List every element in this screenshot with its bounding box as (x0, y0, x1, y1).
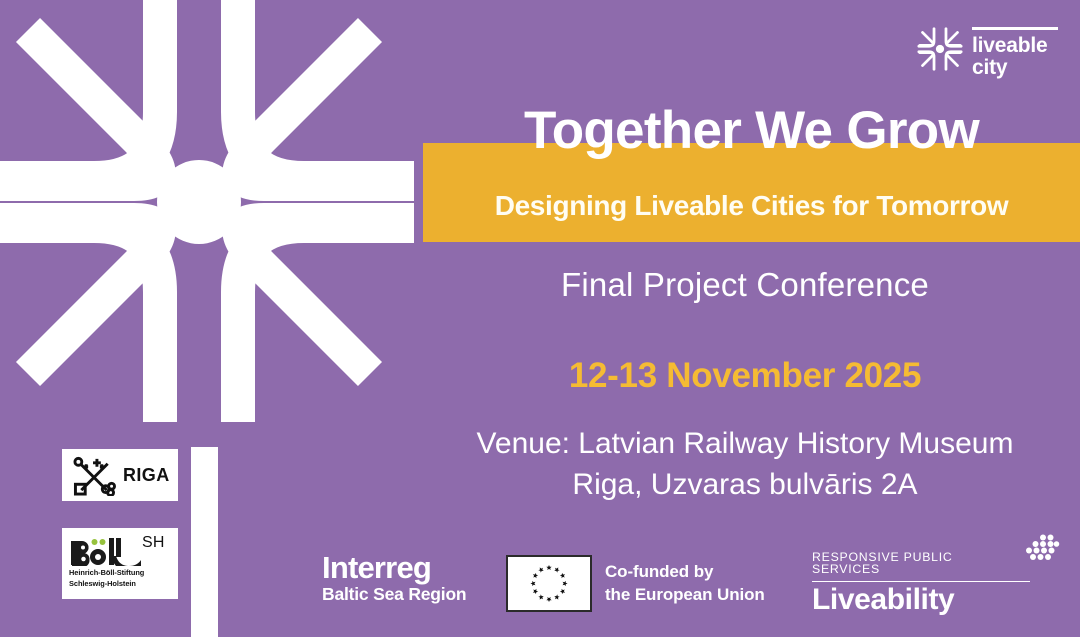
eu-cofunding-logo: Co-funded by the European Union (506, 555, 765, 612)
boll-wordmark-row: SH (69, 534, 172, 566)
boll-suffix: SH (142, 534, 165, 552)
eu-line-1: Co-funded by (605, 561, 765, 583)
event-dates: 12-13 November 2025 (410, 357, 1080, 396)
logo-rule (972, 27, 1058, 30)
boll-subtitle: Heinrich-Böll-Stiftung Schleswig-Holstei… (69, 568, 172, 589)
conference-poster: liveable city Together We Grow Designing… (0, 0, 1080, 637)
liveability-rule (812, 581, 1030, 583)
page-subtitle: Designing Liveable Cities for Tomorrow (423, 192, 1080, 220)
boll-subtitle-line-1: Heinrich-Böll-Stiftung (69, 568, 172, 579)
eu-line-2: the European Union (605, 584, 765, 606)
riga-logo: RIGA (62, 449, 178, 501)
logo-line-2: city (972, 57, 1058, 79)
liveable-city-logo: liveable city (917, 24, 1058, 80)
boll-foundation-logo: SH Heinrich-Böll-Stiftung Schleswig-Hols… (62, 528, 178, 599)
logo-line-1: liveable (972, 35, 1058, 57)
boll-subtitle-line-2: Schleswig-Holstein (69, 579, 172, 590)
interreg-name: Interreg (322, 552, 466, 584)
liveable-city-star-figure-icon (0, 0, 414, 422)
event-venue: Venue: Latvian Railway History Museum Ri… (410, 424, 1080, 505)
figure-leg-stripe (191, 447, 218, 637)
interreg-logo: Interreg Baltic Sea Region (322, 552, 466, 604)
liveability-top-row: RESPONSIVE PUBLIC SERVICES (812, 548, 1060, 576)
riga-crossed-keys-icon (69, 454, 119, 496)
boll-wordmark-icon (69, 534, 141, 566)
page-title: Together We Grow (423, 104, 1080, 157)
event-kicker: Final Project Conference (410, 267, 1080, 304)
liveability-logo: RESPONSIVE PUBLIC SERVICES (812, 548, 1060, 616)
interreg-programme: Baltic Sea Region (322, 585, 466, 604)
european-union-flag-icon (506, 555, 592, 612)
liveability-name: Liveability (812, 584, 1060, 616)
riga-label: RIGA (123, 465, 170, 486)
dot-cluster-icon (1023, 534, 1060, 566)
liveable-city-star-figure-icon (917, 26, 963, 72)
liveability-kicker: RESPONSIVE PUBLIC SERVICES (812, 548, 1023, 576)
venue-line-1: Venue: Latvian Railway History Museum (410, 424, 1080, 465)
liveable-city-wordmark: liveable city (972, 24, 1058, 80)
venue-line-2: Riga, Uzvaras bulvāris 2A (410, 465, 1080, 506)
eu-cofunding-text: Co-funded by the European Union (605, 561, 765, 606)
